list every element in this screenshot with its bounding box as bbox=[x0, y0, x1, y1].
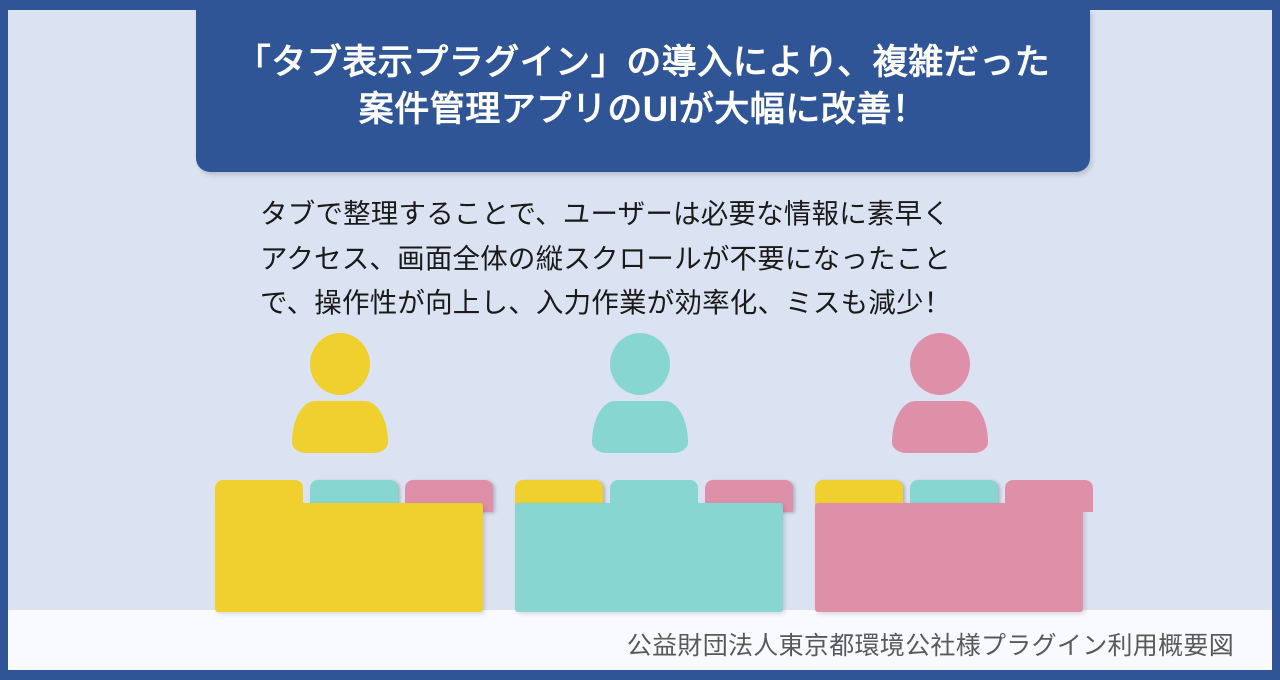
person-icon-3 bbox=[892, 333, 988, 453]
folder-tab-3-3[interactable] bbox=[1005, 480, 1093, 512]
slide-canvas: 「タブ表示プラグイン」の導入により、複雑だった 案件管理アプリのUIが大幅に改善… bbox=[8, 10, 1272, 670]
folder-body-3 bbox=[815, 503, 1083, 612]
person-body-icon bbox=[892, 401, 988, 453]
slide-root: 「タブ表示プラグイン」の導入により、複雑だった 案件管理アプリのUIが大幅に改善… bbox=[0, 0, 1280, 680]
folder-group-1 bbox=[205, 10, 505, 670]
folder-tab-1-1[interactable] bbox=[215, 480, 303, 512]
person-body-icon bbox=[592, 401, 688, 453]
person-head-icon bbox=[310, 333, 370, 395]
folder-group-3 bbox=[805, 10, 1105, 670]
person-icon-2 bbox=[592, 333, 688, 453]
folder-groups bbox=[8, 10, 1272, 670]
footer-caption: 公益財団法人東京都環境公社様プラグイン利用概要図 bbox=[627, 626, 1234, 662]
folder-body-2 bbox=[515, 503, 783, 612]
person-icon-1 bbox=[292, 333, 388, 453]
person-body-icon bbox=[292, 401, 388, 453]
person-head-icon bbox=[610, 333, 670, 395]
folder-body-1 bbox=[215, 503, 483, 612]
folder-3[interactable] bbox=[805, 480, 1083, 612]
folder-1[interactable] bbox=[205, 480, 483, 612]
footer-bar: 公益財団法人東京都環境公社様プラグイン利用概要図 bbox=[8, 610, 1272, 670]
person-head-icon bbox=[910, 333, 970, 395]
folder-group-2 bbox=[505, 10, 805, 670]
folder-2[interactable] bbox=[505, 480, 783, 612]
folder-tab-2-2[interactable] bbox=[610, 480, 698, 512]
